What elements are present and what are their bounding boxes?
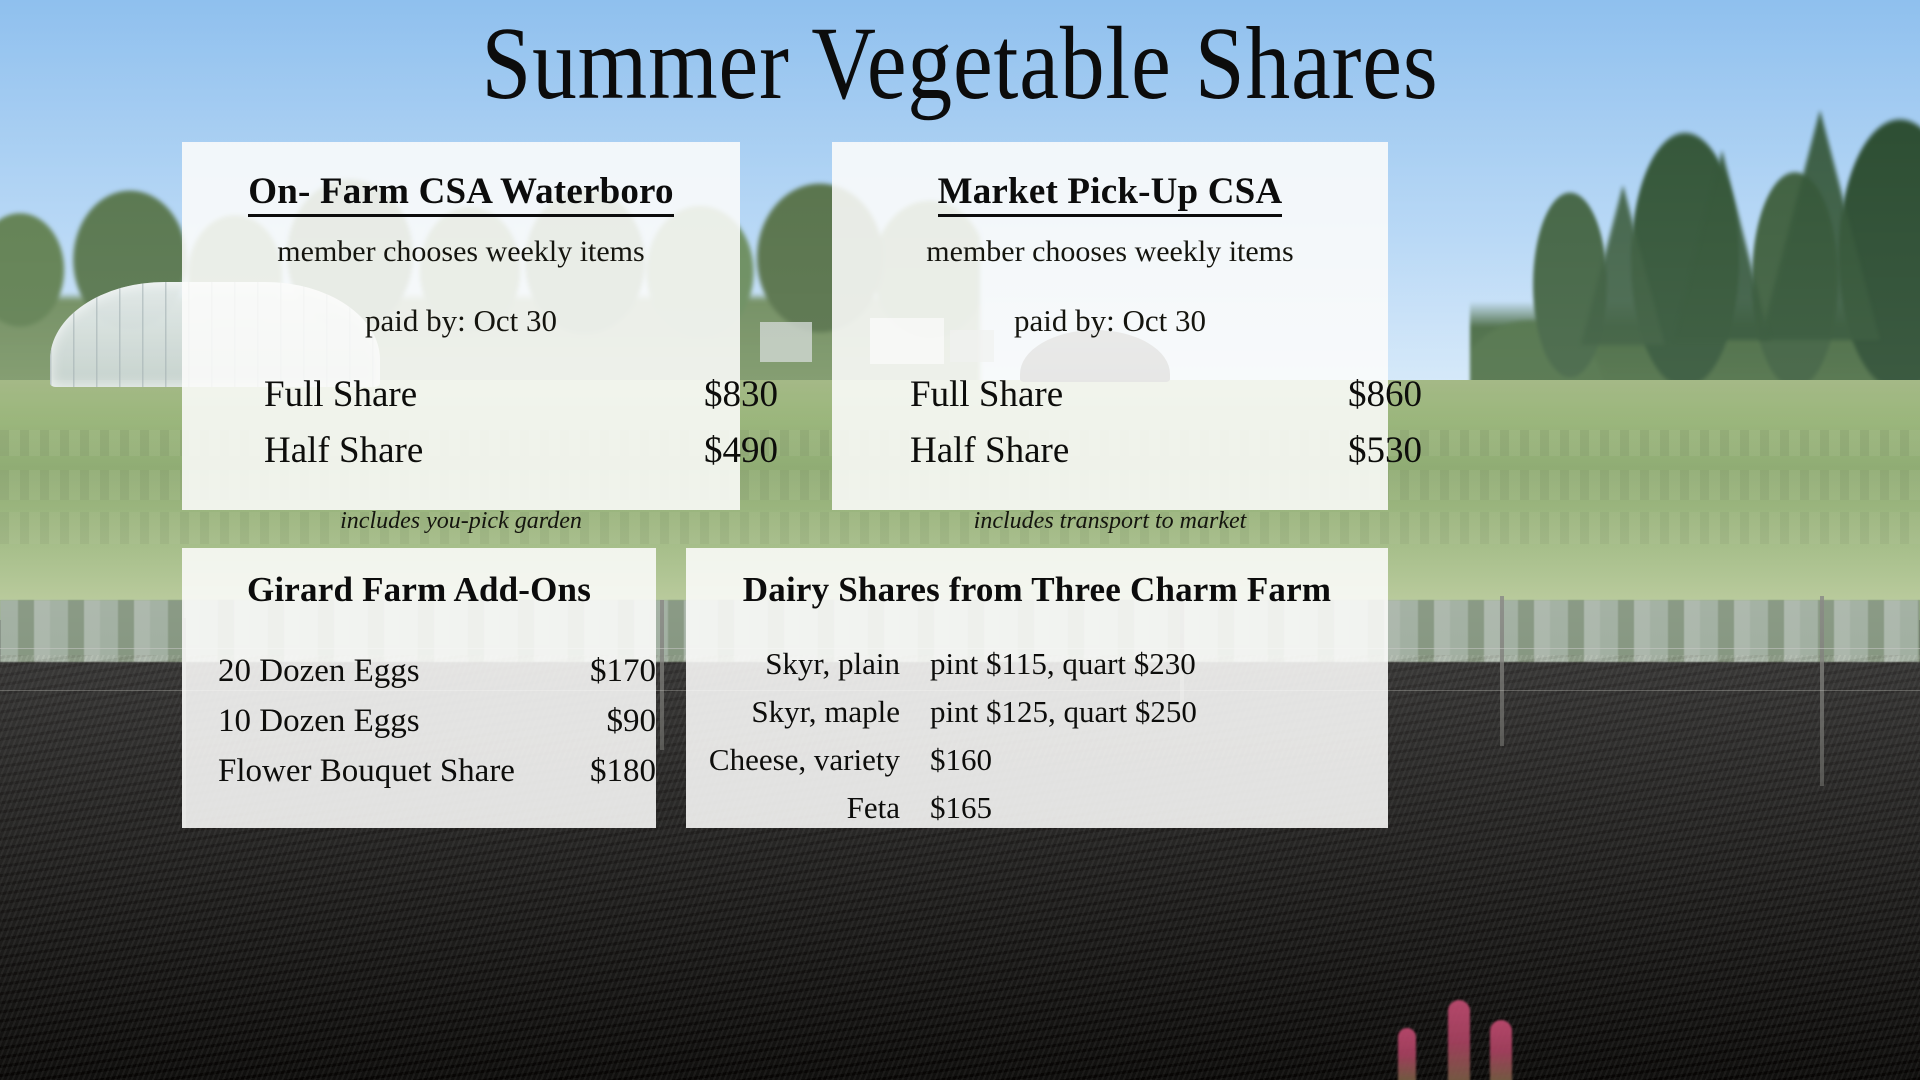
dairy-row: Skyr, plain pint $115, quart $230 — [704, 640, 1370, 688]
price-row-label: Full Share — [264, 367, 417, 423]
dairy-row-value: $165 — [914, 784, 992, 832]
dairy-row-name: Cheese, variety — [704, 736, 914, 784]
card-market-title: Market Pick-Up CSA — [854, 170, 1366, 213]
price-row-value: $490 — [704, 423, 778, 479]
price-row-label: Flower Bouquet Share — [218, 746, 515, 796]
flower-spike — [1490, 1020, 1512, 1080]
price-row-value: $180 — [590, 746, 656, 796]
page-title: Summer Vegetable Shares — [134, 6, 1785, 122]
card-market-subtitle: member chooses weekly items — [854, 235, 1366, 269]
card-onfarm-subtitle: member chooses weekly items — [204, 235, 718, 269]
conifer-spire-icon — [1581, 185, 1665, 345]
card-onfarm-title-text: On- Farm CSA Waterboro — [248, 171, 673, 217]
price-row: 20 Dozen Eggs $170 — [218, 646, 656, 696]
fence-post — [1820, 596, 1824, 786]
price-row-label: Half Share — [264, 423, 423, 479]
card-addons-title: Girard Farm Add-Ons — [200, 570, 638, 610]
dairy-row: Skyr, maple pint $125, quart $250 — [704, 688, 1370, 736]
dairy-row-value: pint $115, quart $230 — [914, 640, 1196, 688]
price-row-value: $170 — [590, 646, 656, 696]
card-market-title-text: Market Pick-Up CSA — [938, 171, 1283, 217]
fence-post — [1500, 596, 1504, 746]
card-market-note: includes transport to market — [854, 508, 1366, 535]
dairy-row-value: $160 — [914, 736, 992, 784]
price-row-value: $90 — [607, 696, 657, 746]
conifer-spire-icon — [1760, 110, 1880, 340]
price-row-label: Full Share — [910, 367, 1063, 423]
card-onfarm-paid-by: paid by: Oct 30 — [204, 303, 718, 339]
price-row: Half Share $530 — [910, 423, 1422, 479]
card-market-paid-by: paid by: Oct 30 — [854, 303, 1366, 339]
price-row-value: $530 — [1348, 423, 1422, 479]
card-market-pickup-csa: Market Pick-Up CSA member chooses weekly… — [832, 142, 1388, 510]
card-onfarm-note: includes you-pick garden — [204, 508, 718, 535]
price-row-label: Half Share — [910, 423, 1069, 479]
farm-shed — [760, 322, 812, 362]
card-market-price-list: Full Share $860 Half Share $530 — [854, 367, 1472, 478]
dairy-row-name: Feta — [704, 784, 914, 832]
card-onfarm-price-list: Full Share $830 Half Share $490 — [204, 367, 816, 478]
price-row-label: 20 Dozen Eggs — [218, 646, 420, 696]
price-row-label: 10 Dozen Eggs — [218, 696, 420, 746]
dairy-row: Cheese, variety $160 — [704, 736, 1370, 784]
card-dairy-title: Dairy Shares from Three Charm Farm — [704, 570, 1370, 610]
dairy-row-name: Skyr, maple — [704, 688, 914, 736]
price-row: Full Share $830 — [264, 367, 778, 423]
price-row-value: $860 — [1348, 367, 1422, 423]
card-dairy-price-list: Skyr, plain pint $115, quart $230 Skyr, … — [704, 640, 1370, 832]
poster-canvas: Summer Vegetable Shares On- Farm CSA Wat… — [0, 0, 1920, 1080]
dairy-row-value: pint $125, quart $250 — [914, 688, 1197, 736]
dairy-row: Feta $165 — [704, 784, 1370, 832]
card-addons-price-list: 20 Dozen Eggs $170 10 Dozen Eggs $90 Flo… — [200, 646, 674, 796]
price-row: 10 Dozen Eggs $90 — [218, 696, 656, 746]
conifer-spire-icon — [1674, 150, 1770, 340]
card-dairy-shares: Dairy Shares from Three Charm Farm Skyr,… — [686, 548, 1388, 828]
price-row: Full Share $860 — [910, 367, 1422, 423]
dairy-row-name: Skyr, plain — [704, 640, 914, 688]
price-row-value: $830 — [704, 367, 778, 423]
card-girard-farm-addons: Girard Farm Add-Ons 20 Dozen Eggs $170 1… — [182, 548, 656, 828]
price-row: Flower Bouquet Share $180 — [218, 746, 656, 796]
price-row: Half Share $490 — [264, 423, 778, 479]
card-onfarm-title: On- Farm CSA Waterboro — [204, 170, 718, 213]
flower-spike — [1448, 1000, 1470, 1080]
card-onfarm-csa: On- Farm CSA Waterboro member chooses we… — [182, 142, 740, 510]
flower-spike — [1398, 1028, 1416, 1080]
